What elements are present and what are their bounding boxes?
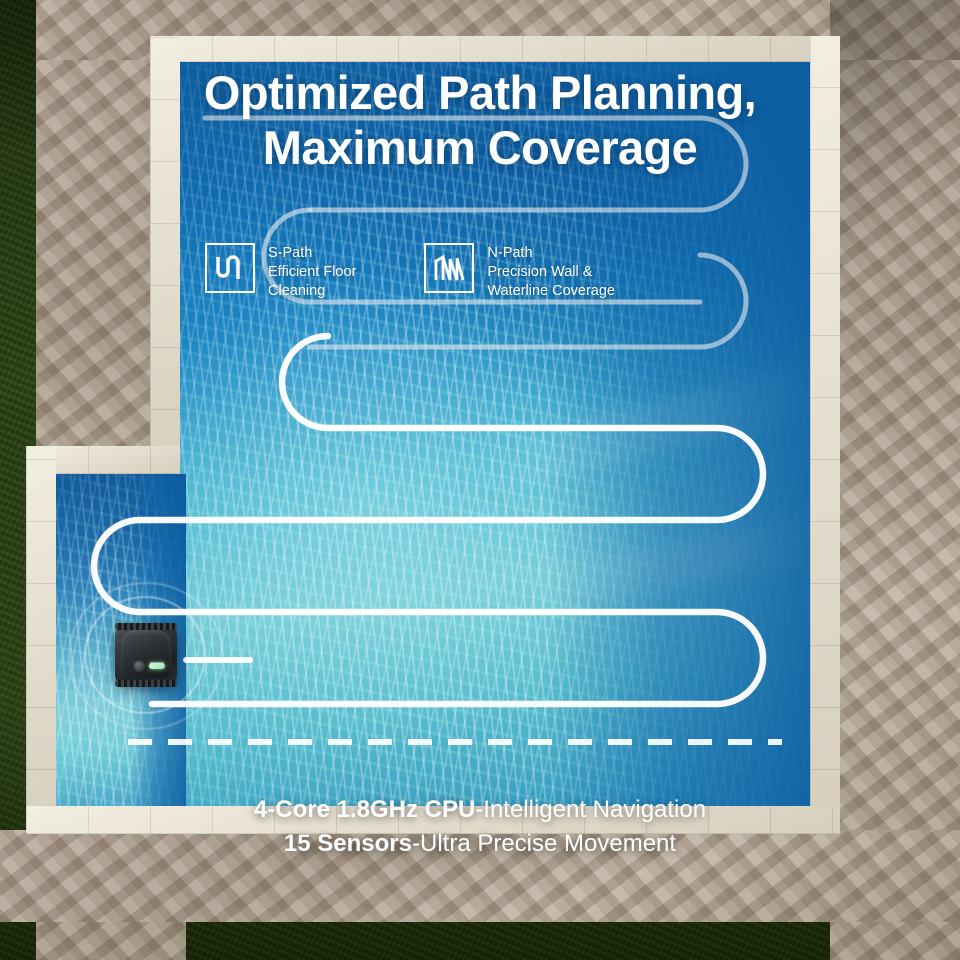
feature-n-path: N-Path Precision Wall & Waterline Covera…	[424, 243, 615, 301]
n-path-icon	[424, 243, 474, 293]
robot-top-shell	[121, 630, 171, 679]
pool-coping-left	[26, 446, 56, 832]
spec-row-cpu: 4-Core 1.8GHz CPU-Intelligent Navigation	[0, 793, 960, 827]
s-path-icon	[205, 243, 255, 293]
headline-line-2: Maximum Coverage	[0, 121, 960, 176]
feature-s-path: S-Path Efficient Floor Cleaning	[205, 243, 356, 301]
feature-n-path-desc-2: Waterline Coverage	[487, 282, 615, 301]
robot-body	[115, 624, 177, 686]
spec-cpu-rest: -Intelligent Navigation	[475, 796, 706, 823]
headline-line-1: Optimized Path Planning,	[204, 66, 756, 119]
feature-s-path-desc-1: Efficient Floor	[268, 263, 356, 282]
page-title: Optimized Path Planning, Maximum Coverag…	[0, 66, 960, 175]
feature-n-path-desc-1: Precision Wall &	[487, 263, 615, 282]
patio-shadow	[830, 0, 960, 420]
robot-dial-icon	[133, 660, 146, 673]
pool-coping-top	[150, 36, 840, 62]
robot-track-bottom	[115, 680, 177, 687]
spec-cpu-bold: 4-Core 1.8GHz CPU	[254, 796, 475, 823]
robot-track-top	[115, 623, 177, 630]
promo-scene: Optimized Path Planning, Maximum Coverag…	[0, 0, 960, 960]
feature-n-path-title: N-Path	[487, 244, 615, 263]
feature-s-path-title: S-Path	[268, 244, 356, 263]
feature-n-path-text: N-Path Precision Wall & Waterline Covera…	[487, 243, 615, 301]
robot-brand-mark	[150, 662, 164, 667]
spec-sensors-rest: -Ultra Precise Movement	[412, 830, 676, 857]
spec-row-sensors: 15 Sensors-Ultra Precise Movement	[0, 827, 960, 861]
spec-list: 4-Core 1.8GHz CPU-Intelligent Navigation…	[0, 793, 960, 861]
feature-s-path-text: S-Path Efficient Floor Cleaning	[268, 243, 356, 301]
feature-list: S-Path Efficient Floor Cleaning N-Path P…	[205, 243, 615, 301]
spec-sensors-bold: 15 Sensors	[284, 830, 412, 857]
robot-pool-cleaner	[104, 614, 188, 696]
feature-s-path-desc-2: Cleaning	[268, 282, 356, 301]
